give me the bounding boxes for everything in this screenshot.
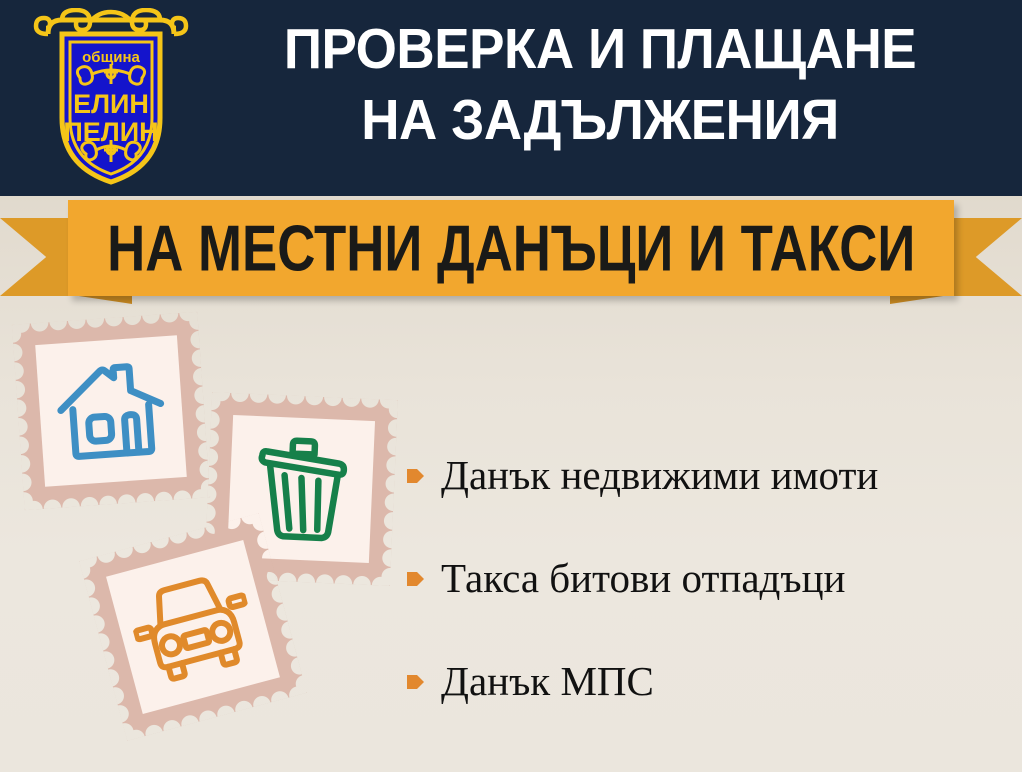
- stamp-property-tax: [12, 312, 211, 511]
- stamp-paper: [106, 540, 280, 714]
- house-icon: [52, 355, 169, 467]
- list-item-label: Данък МПС: [441, 661, 654, 702]
- trash-can-icon: [249, 433, 354, 545]
- stamp-paper: [35, 335, 187, 487]
- list-item[interactable]: Такса битови отпадъци: [405, 527, 1005, 630]
- coat-of-arms-logo: община ЕЛИН ПЕЛИН: [28, 8, 194, 188]
- ribbon-subtitle: НА МЕСТНИ ДАНЪЦИ И ТАКСИ: [107, 211, 915, 286]
- ribbon-band: НА МЕСТНИ ДАНЪЦИ И ТАКСИ: [68, 200, 954, 296]
- header-banner: община ЕЛИН ПЕЛИН: [0, 0, 1022, 196]
- car-icon: [123, 563, 263, 690]
- list-item-label: Данък недвижими имоти: [441, 455, 878, 496]
- page-title: ПРОВЕРКА И ПЛАЩАНЕ НА ЗАДЪЛЖЕНИЯ: [219, 14, 982, 157]
- crest-municipality-label: община: [82, 49, 140, 66]
- arrow-bullet-icon: [405, 672, 425, 692]
- list-item[interactable]: Данък МПС: [405, 630, 1005, 733]
- crest-name-line1: ЕЛИН: [73, 89, 149, 119]
- poster-root: община ЕЛИН ПЕЛИН: [0, 0, 1022, 772]
- list-item-label: Такса битови отпадъци: [441, 558, 845, 599]
- arrow-bullet-icon: [405, 569, 425, 589]
- ribbon-banner: НА МЕСТНИ ДАНЪЦИ И ТАКСИ: [0, 196, 1022, 306]
- list-item[interactable]: Данък недвижими имоти: [405, 424, 1005, 527]
- arrow-bullet-icon: [405, 466, 425, 486]
- tax-type-list: Данък недвижими имоти Такса битови отпад…: [405, 424, 1005, 733]
